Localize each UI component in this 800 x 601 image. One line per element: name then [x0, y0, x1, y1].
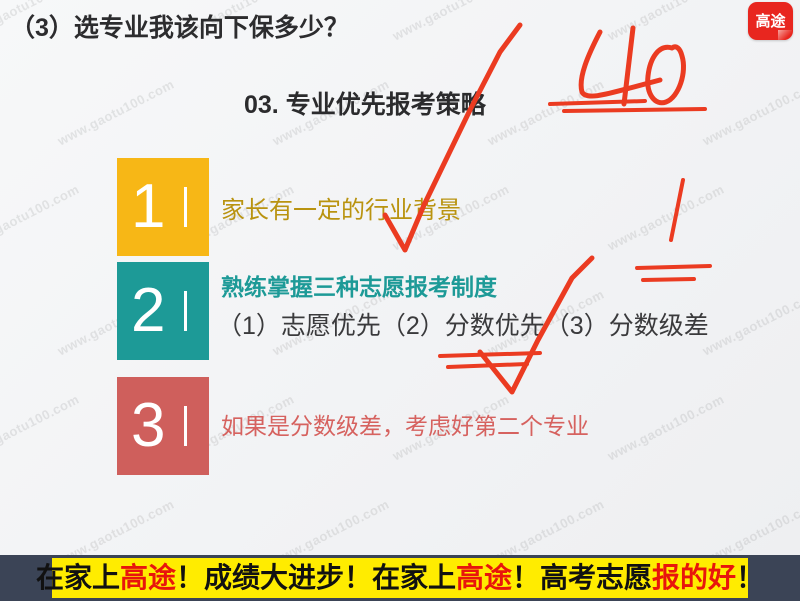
- watermark-text: www.gaotu100.com: [485, 76, 607, 148]
- watermark-text: www.gaotu100.com: [0, 391, 82, 463]
- watermark-text: www.gaotu100.com: [0, 181, 82, 253]
- watermark-text: www.gaotu100.com: [485, 496, 607, 555]
- promo-segment-0: 在家上: [36, 562, 120, 593]
- badge-tick-3: [184, 406, 187, 446]
- list-item-subtext-2: （1）志愿优先（2）分数优先（3）分数级差: [217, 306, 709, 342]
- list-item-label-1: 家长有一定的行业背景: [221, 190, 461, 225]
- watermark-text: www.gaotu100.com: [700, 286, 800, 358]
- watermark-text: www.gaotu100.com: [270, 496, 392, 555]
- section-title: 03. 专业优先报考策略: [244, 85, 486, 121]
- watermark-text: www.gaotu100.com: [390, 0, 512, 43]
- promo-banner-text: 在家上高途！成绩大进步！在家上高途！高考志愿报的好！: [36, 564, 764, 592]
- logo-corner-fold: [778, 30, 792, 40]
- promo-segment-3: 高途: [456, 562, 512, 593]
- watermark-text: www.gaotu100.com: [605, 0, 727, 43]
- watermark-text: www.gaotu100.com: [605, 391, 727, 463]
- list-item-label-2: 熟练掌握三种志愿报考制度: [221, 268, 497, 302]
- promo-segment-6: ！: [736, 562, 764, 593]
- number-badge-1: 1: [117, 158, 209, 256]
- watermark-text: www.gaotu100.com: [700, 496, 800, 555]
- badge-number-3: 3: [131, 395, 165, 457]
- number-badge-3: 3: [117, 377, 209, 475]
- watermark-text: www.gaotu100.com: [55, 496, 177, 555]
- watermark-text: www.gaotu100.com: [55, 76, 177, 148]
- watermark-text: www.gaotu100.com: [605, 181, 727, 253]
- number-badge-2: 2: [117, 262, 209, 360]
- gaotu-logo: 高途: [748, 2, 793, 40]
- slide-canvas: www.gaotu100.comwww.gaotu100.comwww.gaot…: [0, 0, 800, 555]
- badge-number-2: 2: [131, 280, 165, 342]
- badge-tick-1: [184, 187, 187, 227]
- bottom-bar: 在家上高途！成绩大进步！在家上高途！高考志愿报的好！: [0, 555, 800, 601]
- promo-segment-4: ！高考志愿: [512, 562, 652, 593]
- watermark-text: www.gaotu100.com: [700, 76, 800, 148]
- list-item-label-3: 如果是分数级差，考虑好第二个专业: [221, 407, 589, 441]
- page-title: （3）选专业我该向下保多少？: [10, 8, 349, 44]
- promo-segment-2: ！成绩大进步！在家上: [176, 562, 456, 593]
- promo-banner: 在家上高途！成绩大进步！在家上高途！高考志愿报的好！: [52, 558, 748, 598]
- badge-number-1: 1: [131, 176, 165, 238]
- promo-segment-5: 报的好: [652, 562, 736, 593]
- logo-label: 高途: [755, 14, 785, 29]
- promo-segment-1: 高途: [120, 562, 176, 593]
- badge-tick-2: [184, 291, 187, 331]
